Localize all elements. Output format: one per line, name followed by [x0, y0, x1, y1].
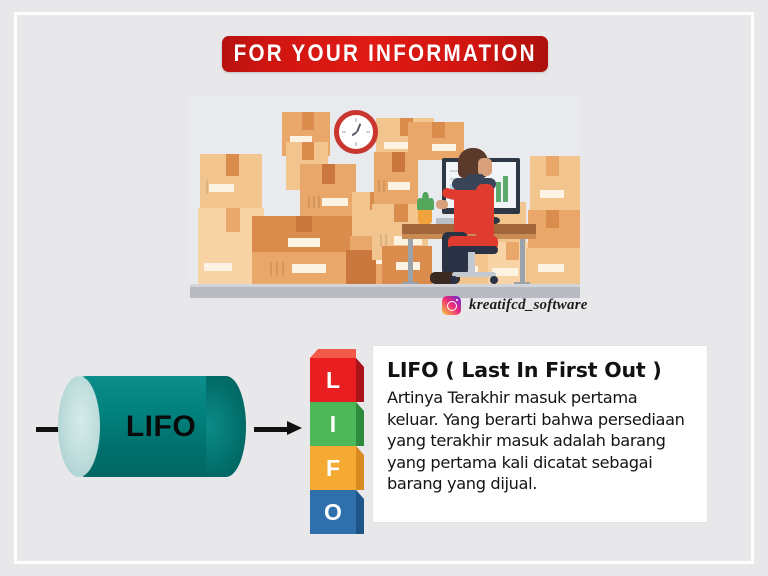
person-hand	[436, 200, 448, 209]
lifo-cylinder-diagram: LIFO	[36, 372, 306, 484]
chair-wheel	[490, 276, 498, 284]
chair-wheel	[450, 276, 458, 284]
title-banner: FOR YOUR INFORMATION	[222, 36, 548, 72]
plant-leaf	[417, 198, 423, 210]
letter-block: I	[310, 402, 356, 446]
letter-block: F	[310, 446, 356, 490]
instagram-credit[interactable]: kreatifcd_software	[442, 296, 588, 315]
plant-pot	[418, 208, 432, 224]
cylinder-label: LIFO	[76, 376, 246, 477]
letter-block-label: F	[326, 455, 340, 482]
desk-leg	[520, 239, 525, 286]
chair-back	[476, 184, 494, 240]
lifo-letter-blocks: L I F O	[310, 348, 372, 526]
wall-clock-icon	[334, 110, 378, 154]
instagram-icon	[442, 296, 461, 315]
box-graphic	[300, 164, 356, 218]
definition-panel: LIFO ( Last In First Out ) Artinya Terak…	[372, 345, 708, 523]
warehouse-illustration	[190, 96, 580, 298]
letter-block: O	[310, 490, 356, 534]
plant-leaf	[428, 198, 434, 210]
box-graphic	[526, 248, 580, 286]
slide-canvas: FOR YOUR INFORMATION	[0, 0, 768, 576]
desk-leg	[408, 239, 413, 286]
definition-body: Artinya Terakhir masuk pertama keluar. Y…	[387, 387, 693, 495]
letter-block-label: L	[326, 367, 340, 394]
box-graphic	[374, 152, 418, 210]
instagram-handle: kreatifcd_software	[469, 297, 588, 314]
chair-post	[468, 252, 475, 274]
letter-block-label: O	[324, 499, 342, 526]
title-banner-label: FOR YOUR INFORMATION	[233, 40, 536, 68]
box-graphic	[382, 246, 432, 286]
letter-block: L	[310, 358, 356, 402]
box-graphic	[252, 252, 356, 286]
definition-title: LIFO ( Last In First Out )	[387, 358, 693, 382]
arrow-out-icon	[254, 424, 302, 433]
chair-base	[452, 272, 496, 277]
letter-block-label: I	[330, 411, 336, 438]
box-graphic	[530, 156, 580, 214]
box-graphic	[200, 154, 262, 208]
